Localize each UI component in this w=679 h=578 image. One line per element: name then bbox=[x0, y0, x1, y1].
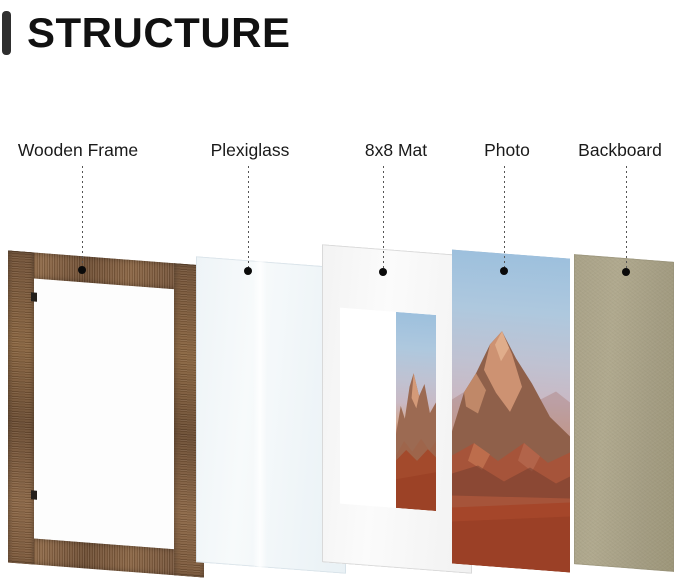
plexiglass-sheen bbox=[253, 261, 267, 568]
leader-line-wooden-frame bbox=[82, 166, 83, 270]
frame-clip-lower bbox=[31, 490, 37, 499]
photo-artwork-slice bbox=[396, 312, 436, 511]
label-wooden-frame: Wooden Frame bbox=[18, 140, 138, 161]
photo-artwork bbox=[452, 249, 570, 572]
layer-mat bbox=[322, 244, 472, 574]
label-photo: Photo bbox=[484, 140, 530, 161]
exploded-layer-diagram bbox=[0, 0, 679, 573]
leader-line-backboard bbox=[626, 166, 627, 272]
leader-line-plexiglass bbox=[248, 166, 249, 271]
leader-dot-backboard bbox=[622, 268, 630, 276]
label-plexiglass: Plexiglass bbox=[211, 140, 290, 161]
layer-backboard bbox=[574, 254, 674, 572]
leader-dot-mat bbox=[379, 268, 387, 276]
layer-photo bbox=[452, 249, 570, 572]
leader-dot-plexiglass bbox=[244, 267, 252, 275]
frame-clip-upper bbox=[31, 292, 37, 301]
leader-line-photo bbox=[504, 166, 505, 271]
mat-window-photo-slice bbox=[396, 312, 436, 511]
leader-dot-photo bbox=[500, 267, 508, 275]
frame-opening bbox=[34, 278, 174, 549]
layer-wooden-frame bbox=[8, 250, 204, 577]
mat-window-opening bbox=[340, 308, 436, 511]
label-backboard: Backboard bbox=[578, 140, 662, 161]
leader-line-mat bbox=[383, 166, 384, 272]
label-mat: 8x8 Mat bbox=[365, 140, 427, 161]
leader-dot-wooden-frame bbox=[78, 266, 86, 274]
